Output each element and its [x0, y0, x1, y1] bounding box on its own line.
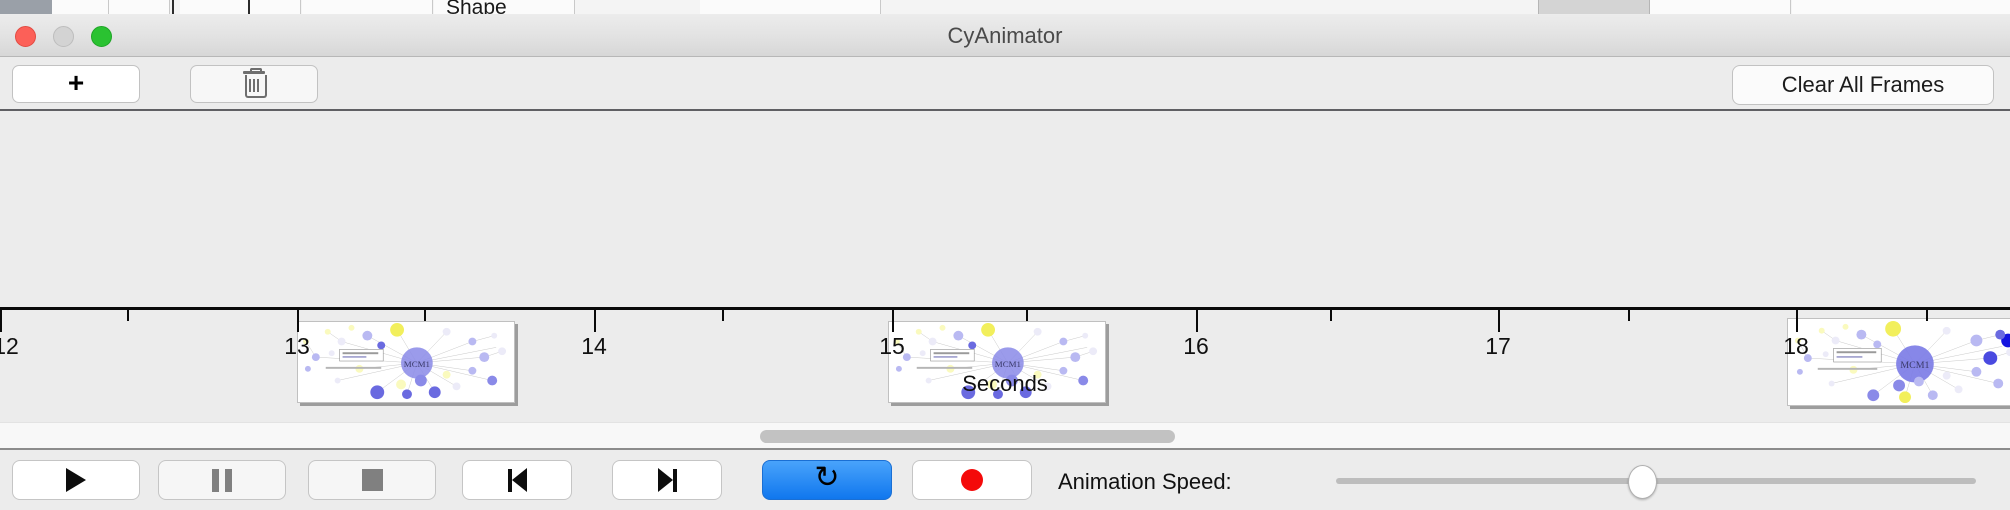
skip-forward-icon — [658, 468, 677, 492]
trash-icon — [243, 71, 265, 97]
background-grey-box — [1538, 0, 1650, 14]
stop-icon — [362, 469, 383, 491]
record-icon — [961, 469, 983, 491]
background-cell — [52, 0, 109, 14]
animation-speed-label: Animation Speed: — [1058, 469, 1232, 495]
clear-all-frames-label: Clear All Frames — [1782, 72, 1945, 98]
ruler-tick-label: 18 — [1783, 333, 1809, 360]
ruler-minor-tick — [424, 310, 426, 321]
ruler-tick-label: 13 — [284, 333, 310, 360]
loop-icon: ↻ — [814, 463, 839, 493]
ruler-minor-tick — [1026, 310, 1028, 321]
pause-button[interactable] — [158, 460, 286, 500]
svg-text:MCM1: MCM1 — [1900, 360, 1929, 371]
background-dark-tab — [0, 0, 52, 14]
background-tick — [248, 0, 250, 14]
timeline-axis-title: Seconds — [0, 371, 2010, 397]
background-cell — [1792, 0, 2010, 14]
timeline-panel[interactable]: MCM1 — [0, 111, 2010, 422]
ruler-major-tick — [1498, 310, 1500, 332]
ruler-tick-label: 17 — [1485, 333, 1511, 360]
background-cell — [180, 0, 301, 14]
delete-frame-button[interactable] — [190, 65, 318, 103]
ruler-tick-label: 16 — [1183, 333, 1209, 360]
ruler-minor-tick — [127, 310, 129, 321]
skip-to-end-button[interactable] — [612, 460, 722, 500]
timeline-scrollbar[interactable] — [0, 422, 2010, 450]
background-cell — [700, 0, 881, 14]
clear-all-frames-button[interactable]: Clear All Frames — [1732, 65, 1994, 105]
play-button[interactable] — [12, 460, 140, 500]
playback-toolbar: ↻ Animation Speed: — [0, 450, 2010, 510]
play-icon — [66, 468, 86, 492]
toolbar: + Clear All Frames — [0, 57, 2010, 111]
ruler-major-tick — [594, 310, 596, 332]
background-tick — [172, 0, 174, 14]
plus-icon: + — [68, 69, 84, 97]
animation-speed-slider-thumb[interactable] — [1628, 465, 1657, 499]
title-bar: CyAnimator — [0, 14, 2010, 57]
window-title: CyAnimator — [0, 23, 2010, 49]
background-window-strip: Shape — [0, 0, 2010, 14]
pause-icon — [212, 469, 232, 492]
ruler-minor-tick — [1926, 310, 1928, 321]
background-shape-label: Shape — [446, 0, 507, 14]
scrollbar-thumb[interactable] — [760, 430, 1175, 443]
ruler-major-tick — [1196, 310, 1198, 332]
background-cell — [302, 0, 433, 14]
ruler-tick-label: 15 — [879, 333, 905, 360]
loop-button[interactable]: ↻ — [762, 460, 892, 500]
ruler-major-tick — [297, 310, 299, 332]
record-button[interactable] — [912, 460, 1032, 500]
svg-text:MCM1: MCM1 — [404, 359, 430, 369]
timeline-ruler — [0, 307, 2010, 310]
cyanimator-window: Shape CyAnimator + Clear All Fram — [0, 0, 2010, 510]
skip-to-start-button[interactable] — [462, 460, 572, 500]
skip-back-icon — [508, 468, 527, 492]
svg-text:MCM1: MCM1 — [995, 359, 1021, 369]
stop-button[interactable] — [308, 460, 436, 500]
background-cell — [109, 0, 170, 14]
background-cell — [1650, 0, 1791, 14]
add-frame-button[interactable]: + — [12, 65, 140, 103]
ruler-tick-label: 12 — [0, 333, 19, 360]
ruler-minor-tick — [1330, 310, 1332, 321]
ruler-major-tick — [892, 310, 894, 332]
ruler-minor-tick — [722, 310, 724, 321]
ruler-minor-tick — [1628, 310, 1630, 321]
ruler-major-tick — [0, 310, 2, 332]
ruler-major-tick — [1796, 310, 1798, 332]
ruler-tick-label: 14 — [581, 333, 607, 360]
